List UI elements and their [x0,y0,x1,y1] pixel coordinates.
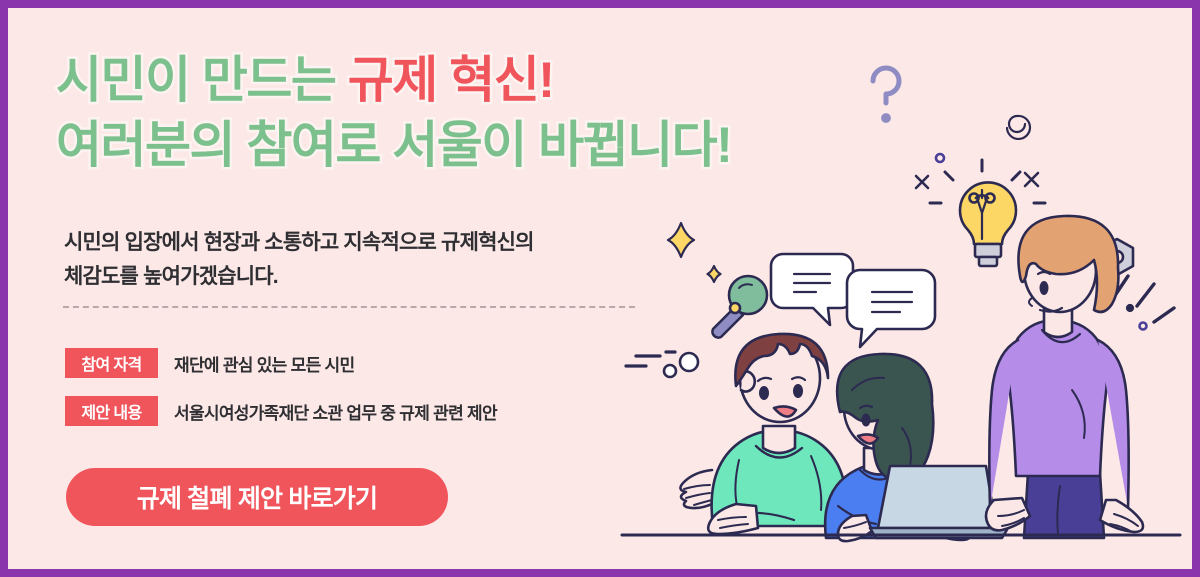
illustration [608,8,1192,569]
promo-banner: 시민이 만드는 규제 혁신! 여러분의 참여로 서울이 바뀝니다! 시민의 입장… [0,0,1200,577]
emphasis-dash-icon [1116,276,1174,322]
dot-ring-icon-2 [1140,323,1147,330]
cta-proposal-button[interactable]: 규제 철폐 제안 바로가기 [66,468,448,526]
magnifier-icon [712,276,767,338]
bubble-dot-large [680,353,698,371]
badge-eligibility: 참여 자격 [65,348,158,378]
spiral-icon [1007,116,1030,139]
sparkle-icon-yellow [668,223,721,282]
info-list: 참여 자격 재단에 관심 있는 모든 시민 제안 내용 서울시여성가족재단 소관… [65,348,665,444]
subtitle-line-2: 체감도를 높여가겠습니다. [64,260,644,294]
headline-line-1-green: 시민이 만드는 [56,52,348,108]
subtitle-text: 시민의 입장에서 현장과 소통하고 지속적으로 규제혁신의 체감도를 높여가겠습… [64,226,644,293]
info-row-proposal: 제안 내용 서울시여성가족재단 소관 업무 중 규제 관련 제안 [65,396,665,426]
speech-bubble-icon-2 [847,270,935,347]
speech-bubble-icon [771,254,853,325]
badge-proposal: 제안 내용 [65,396,158,426]
divider [63,306,635,308]
question-mark-icon [873,68,899,120]
info-text-proposal: 서울시여성가족재단 소관 업무 중 규제 관련 제안 [174,399,497,424]
subtitle-line-1: 시민의 입장에서 현장과 소통하고 지속적으로 규제혁신의 [64,226,644,260]
info-text-eligibility: 재단에 관심 있는 모든 시민 [174,351,354,376]
person-middle [825,354,1008,541]
headline-line-1-red: 규제 혁신! [348,52,554,108]
dot-ring-icon [936,154,944,162]
banner-content-area: 시민이 만드는 규제 혁신! 여러분의 참여로 서울이 바뀝니다! 시민의 입장… [8,8,1192,569]
info-row-eligibility: 참여 자격 재단에 관심 있는 모든 시민 [65,348,665,378]
speed-dash-icon [626,352,675,366]
illustration-svg [608,8,1192,569]
bubble-dot-small [664,365,676,377]
person-left [680,334,846,534]
